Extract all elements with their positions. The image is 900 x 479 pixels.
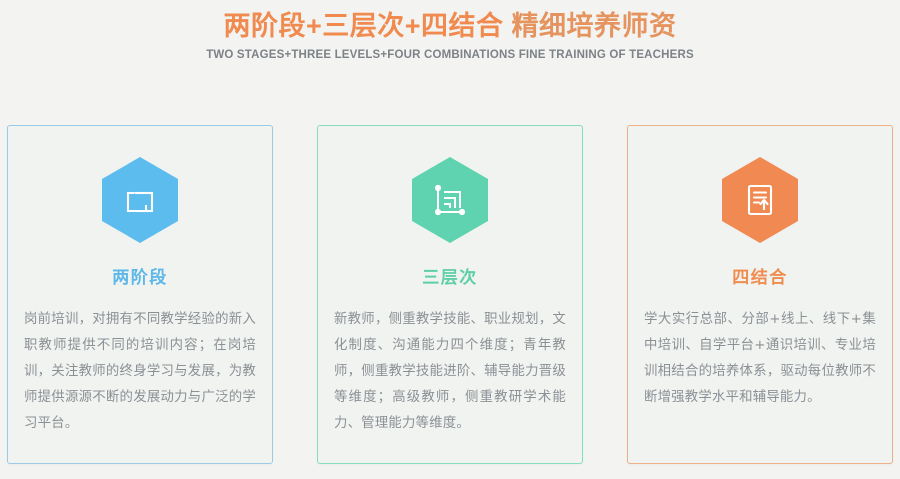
overlapping-squares-icon [100,156,180,244]
card-title-two-stages: 两阶段 [112,269,168,286]
page-title: 两阶段+三层次+四结合 精细培养师资 [0,11,900,42]
page-title-sub: 精细培养师资 [504,11,677,41]
card-body-two-stages: 岗前培训，对拥有不同教学经验的新入职教师提供不同的培训内容；在岗培训，关注教师的… [24,307,256,437]
page-header: 两阶段+三层次+四结合 精细培养师资 TWO STAGES+THREE LEVE… [0,0,900,61]
nested-corner-nodes-icon [410,156,490,244]
card-icon-wrapper [720,156,800,244]
card-body-three-levels: 新教师，侧重教学技能、职业规划，文化制度、沟通能力四个维度；青年教师，侧重教学技… [334,307,566,437]
card-three-levels[interactable]: 三层次 新教师，侧重教学技能、职业规划，文化制度、沟通能力四个维度；青年教师，侧… [317,125,583,464]
card-four-combinations[interactable]: 四结合 学大实行总部、分部+线上、线下+集中培训、自学平台+通识培训、专业培训相… [627,125,893,464]
card-icon-wrapper [410,156,490,244]
feature-cards: 两阶段 岗前培训，对拥有不同教学经验的新入职教师提供不同的培训内容；在岗培训，关… [0,125,900,464]
card-body-four-combinations: 学大实行总部、分部+线上、线下+集中培训、自学平台+通识培训、专业培训相结合的培… [644,307,876,411]
card-icon-wrapper [100,156,180,244]
card-title-four-combinations: 四结合 [732,269,788,286]
document-upload-icon [720,156,800,244]
page-subtitle: TWO STAGES+THREE LEVELS+FOUR COMBINATION… [0,49,900,61]
page-title-main: 两阶段+三层次+四结合 [223,11,503,41]
card-two-stages[interactable]: 两阶段 岗前培训，对拥有不同教学经验的新入职教师提供不同的培训内容；在岗培训，关… [7,125,273,464]
card-title-three-levels: 三层次 [422,269,478,286]
